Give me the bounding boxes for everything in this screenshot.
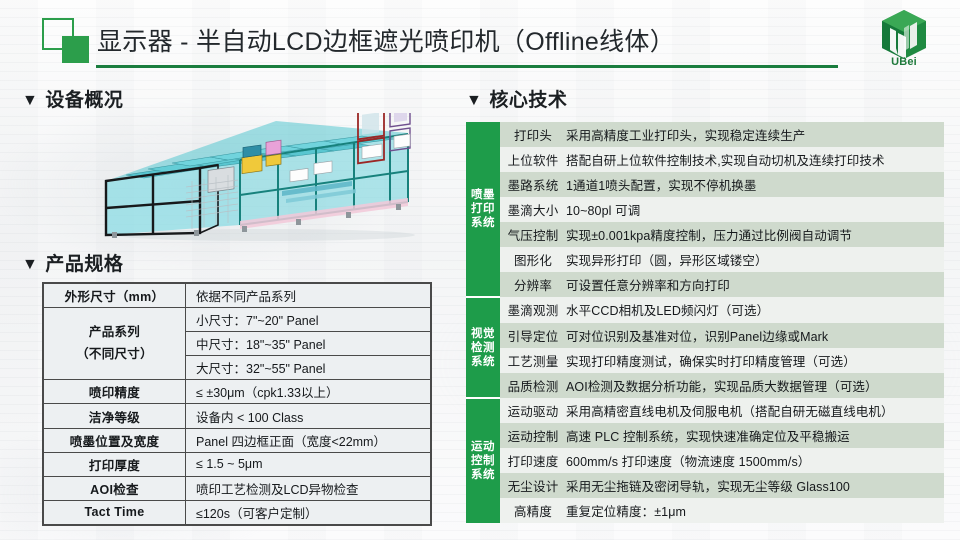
table-row: 运动控制 高速 PLC 控制系统，实现快速准确定位及平稳搬运 — [466, 423, 944, 448]
spec-key: 喷印精度 — [44, 380, 186, 404]
tech-item-name: 打印速度 — [500, 448, 566, 473]
heading-overview-label: 设备概况 — [45, 90, 123, 111]
tech-item-desc: 实现异形打印（圆，异形区域镂空） — [566, 247, 944, 272]
table-row: 运动 控制 系统 运动驱动 采用高精密直线电机及伺服电机（搭配自研无磁直线电机） — [466, 398, 944, 423]
heading-core-label: 核心技术 — [489, 90, 567, 111]
spec-value: ≤120s（可客户定制） — [186, 500, 431, 524]
table-row: 视觉 检测 系统 墨滴观测 水平CCD相机及LED频闪灯（可选） — [466, 297, 944, 322]
tech-item-desc: 实现打印精度测试，确保实时打印精度管理（可选） — [566, 348, 944, 373]
tech-item-desc: 600mm/s 打印速度（物流速度 1500mm/s） — [566, 448, 944, 473]
table-row: 洁净等级 设备内 < 100 Class — [44, 404, 431, 428]
spec-value: 依据不同产品系列 — [186, 284, 431, 308]
spec-value: 小尺寸：7"~20" Panel — [186, 308, 431, 332]
product-spec-table: 外形尺寸（mm） 依据不同产品系列 产品系列 （不同尺寸） 小尺寸：7"~20"… — [42, 282, 432, 526]
table-row: 喷墨位置及宽度 Panel 四边框正面（宽度<22mm） — [44, 428, 431, 452]
table-row: 无尘设计 采用无尘拖链及密闭导轨，实现无尘等级 Glass100 — [466, 473, 944, 498]
table-row: 高精度 重复定位精度：±1μm — [466, 498, 944, 523]
heading-equipment-overview: ▼设备概况 — [22, 85, 123, 112]
table-row: 墨路系统 1通道1喷头配置，实现不停机换墨 — [466, 172, 944, 197]
spec-value: ≤ 1.5 ~ 5μm — [186, 452, 431, 476]
table-row: 图形化 实现异形打印（圆，异形区域镂空） — [466, 247, 944, 272]
group-label-line: 视觉 — [466, 327, 500, 341]
table-row: AOI检查 喷印工艺检测及LCD异物检查 — [44, 476, 431, 500]
heading-product-specs: ▼产品规格 — [22, 249, 123, 276]
tech-item-desc: AOI检测及数据分析功能，实现品质大数据管理（可选） — [566, 373, 944, 398]
spec-value: Panel 四边框正面（宽度<22mm） — [186, 428, 431, 452]
table-row: 产品系列 （不同尺寸） 小尺寸：7"~20" Panel — [44, 308, 431, 332]
tech-item-desc: 实现±0.001kpa精度控制，压力通过比例阀自动调节 — [566, 222, 944, 247]
tech-item-desc: 可对位识别及基准对位，识别Panel边缘或Mark — [566, 323, 944, 348]
group-label-inkjet-printing: 喷墨 打印 系统 — [466, 122, 500, 297]
tech-item-desc: 采用高精度工业打印头，实现稳定连续生产 — [566, 122, 944, 147]
tech-item-desc: 搭配自研上位软件控制技术,实现自动切机及连续打印技术 — [566, 147, 944, 172]
tech-item-desc: 可设置任意分辨率和方向打印 — [566, 272, 944, 297]
table-row: 外形尺寸（mm） 依据不同产品系列 — [44, 284, 431, 308]
triangle-bullet-icon: ▼ — [22, 92, 38, 110]
tech-item-name: 墨滴大小 — [500, 197, 566, 222]
spec-value: 设备内 < 100 Class — [186, 404, 431, 428]
table-row: 墨滴大小 10~80pl 可调 — [466, 197, 944, 222]
spec-value: 中尺寸：18"~35" Panel — [186, 332, 431, 356]
tech-item-name: 运动控制 — [500, 423, 566, 448]
tech-item-name: 分辨率 — [500, 272, 566, 297]
spec-key: 洁净等级 — [44, 404, 186, 428]
group-label-line: 系统 — [466, 355, 500, 369]
triangle-bullet-icon: ▼ — [466, 92, 482, 110]
tech-item-name: 高精度 — [500, 498, 566, 523]
triangle-bullet-icon: ▼ — [22, 256, 38, 274]
group-label-line: 控制 — [466, 454, 500, 468]
tech-item-name: 墨滴观测 — [500, 297, 566, 322]
group-label-motion-control: 运动 控制 系统 — [466, 398, 500, 523]
tech-item-name: 工艺测量 — [500, 348, 566, 373]
tech-item-desc: 采用高精密直线电机及伺服电机（搭配自研无磁直线电机） — [566, 398, 944, 423]
tech-item-desc: 采用无尘拖链及密闭导轨，实现无尘等级 Glass100 — [566, 473, 944, 498]
spec-value: ≤ ±30μm（cpk1.33以上） — [186, 380, 431, 404]
core-technology-table: 喷墨 打印 系统 打印头 采用高精度工业打印头，实现稳定连续生产 上位软件 搭配… — [466, 122, 944, 523]
table-row: 品质检测 AOI检测及数据分析功能，实现品质大数据管理（可选） — [466, 373, 944, 398]
tech-item-name: 上位软件 — [500, 147, 566, 172]
table-row: 打印速度 600mm/s 打印速度（物流速度 1500mm/s） — [466, 448, 944, 473]
tech-item-name: 打印头 — [500, 122, 566, 147]
group-label-line: 喷墨 — [466, 188, 500, 202]
square-filled-icon — [62, 36, 89, 63]
table-row: 喷墨 打印 系统 打印头 采用高精度工业打印头，实现稳定连续生产 — [466, 122, 944, 147]
group-label-line: 运动 — [466, 440, 500, 454]
spec-key: 外形尺寸（mm） — [44, 284, 186, 308]
table-row: 打印厚度 ≤ 1.5 ~ 5μm — [44, 452, 431, 476]
spec-key-product-series: 产品系列 （不同尺寸） — [44, 308, 186, 380]
heading-core-technology: ▼核心技术 — [466, 85, 567, 112]
tech-item-name: 品质检测 — [500, 373, 566, 398]
spec-key: 打印厚度 — [44, 452, 186, 476]
table-row: 气压控制 实现±0.001kpa精度控制，压力通过比例阀自动调节 — [466, 222, 944, 247]
spec-key: 喷墨位置及宽度 — [44, 428, 186, 452]
table-row: 分辨率 可设置任意分辨率和方向打印 — [466, 272, 944, 297]
tech-item-desc: 10~80pl 可调 — [566, 197, 944, 222]
decorative-squares-logo — [42, 18, 90, 63]
spec-value: 大尺寸：32"~55" Panel — [186, 356, 431, 380]
spec-key-line1: 产品系列 — [50, 322, 179, 344]
brand-name-label: UBei — [876, 56, 932, 68]
spec-key-line2: （不同尺寸） — [50, 344, 179, 366]
tech-item-name: 气压控制 — [500, 222, 566, 247]
group-label-line: 系统 — [466, 468, 500, 482]
group-label-line: 打印 — [466, 202, 500, 216]
table-row: Tact Time ≤120s（可客户定制） — [44, 500, 431, 524]
spec-key: Tact Time — [44, 500, 186, 524]
table-row: 引导定位 可对位识别及基准对位，识别Panel边缘或Mark — [466, 323, 944, 348]
spec-value: 喷印工艺检测及LCD异物检查 — [186, 476, 431, 500]
table-row: 工艺测量 实现打印精度测试，确保实时打印精度管理（可选） — [466, 348, 944, 373]
group-label-line: 系统 — [466, 216, 500, 230]
spec-key: AOI检查 — [44, 476, 186, 500]
tech-item-desc: 高速 PLC 控制系统，实现快速准确定位及平稳搬运 — [566, 423, 944, 448]
tech-item-name: 无尘设计 — [500, 473, 566, 498]
heading-specs-label: 产品规格 — [45, 254, 123, 275]
slide-header: 显示器 - 半自动LCD边框遮光喷印机（Offline线体） UBei — [0, 0, 960, 78]
table-row: 喷印精度 ≤ ±30μm（cpk1.33以上） — [44, 380, 431, 404]
table-row: 上位软件 搭配自研上位软件控制技术,实现自动切机及连续打印技术 — [466, 147, 944, 172]
equipment-illustration — [90, 113, 432, 245]
tech-item-name: 图形化 — [500, 247, 566, 272]
tech-item-name: 运动驱动 — [500, 398, 566, 423]
tech-item-name: 引导定位 — [500, 323, 566, 348]
tech-item-desc: 水平CCD相机及LED频闪灯（可选） — [566, 297, 944, 322]
title-underline-rule — [96, 65, 838, 68]
slide-root: 显示器 - 半自动LCD边框遮光喷印机（Offline线体） UBei ▼设备概… — [0, 0, 960, 540]
group-label-line: 检测 — [466, 341, 500, 355]
group-label-vision-inspection: 视觉 检测 系统 — [466, 297, 500, 397]
tech-item-desc: 重复定位精度：±1μm — [566, 498, 944, 523]
tech-item-name: 墨路系统 — [500, 172, 566, 197]
page-title: 显示器 - 半自动LCD边框遮光喷印机（Offline线体） — [97, 22, 675, 58]
tech-item-desc: 1通道1喷头配置，实现不停机换墨 — [566, 172, 944, 197]
